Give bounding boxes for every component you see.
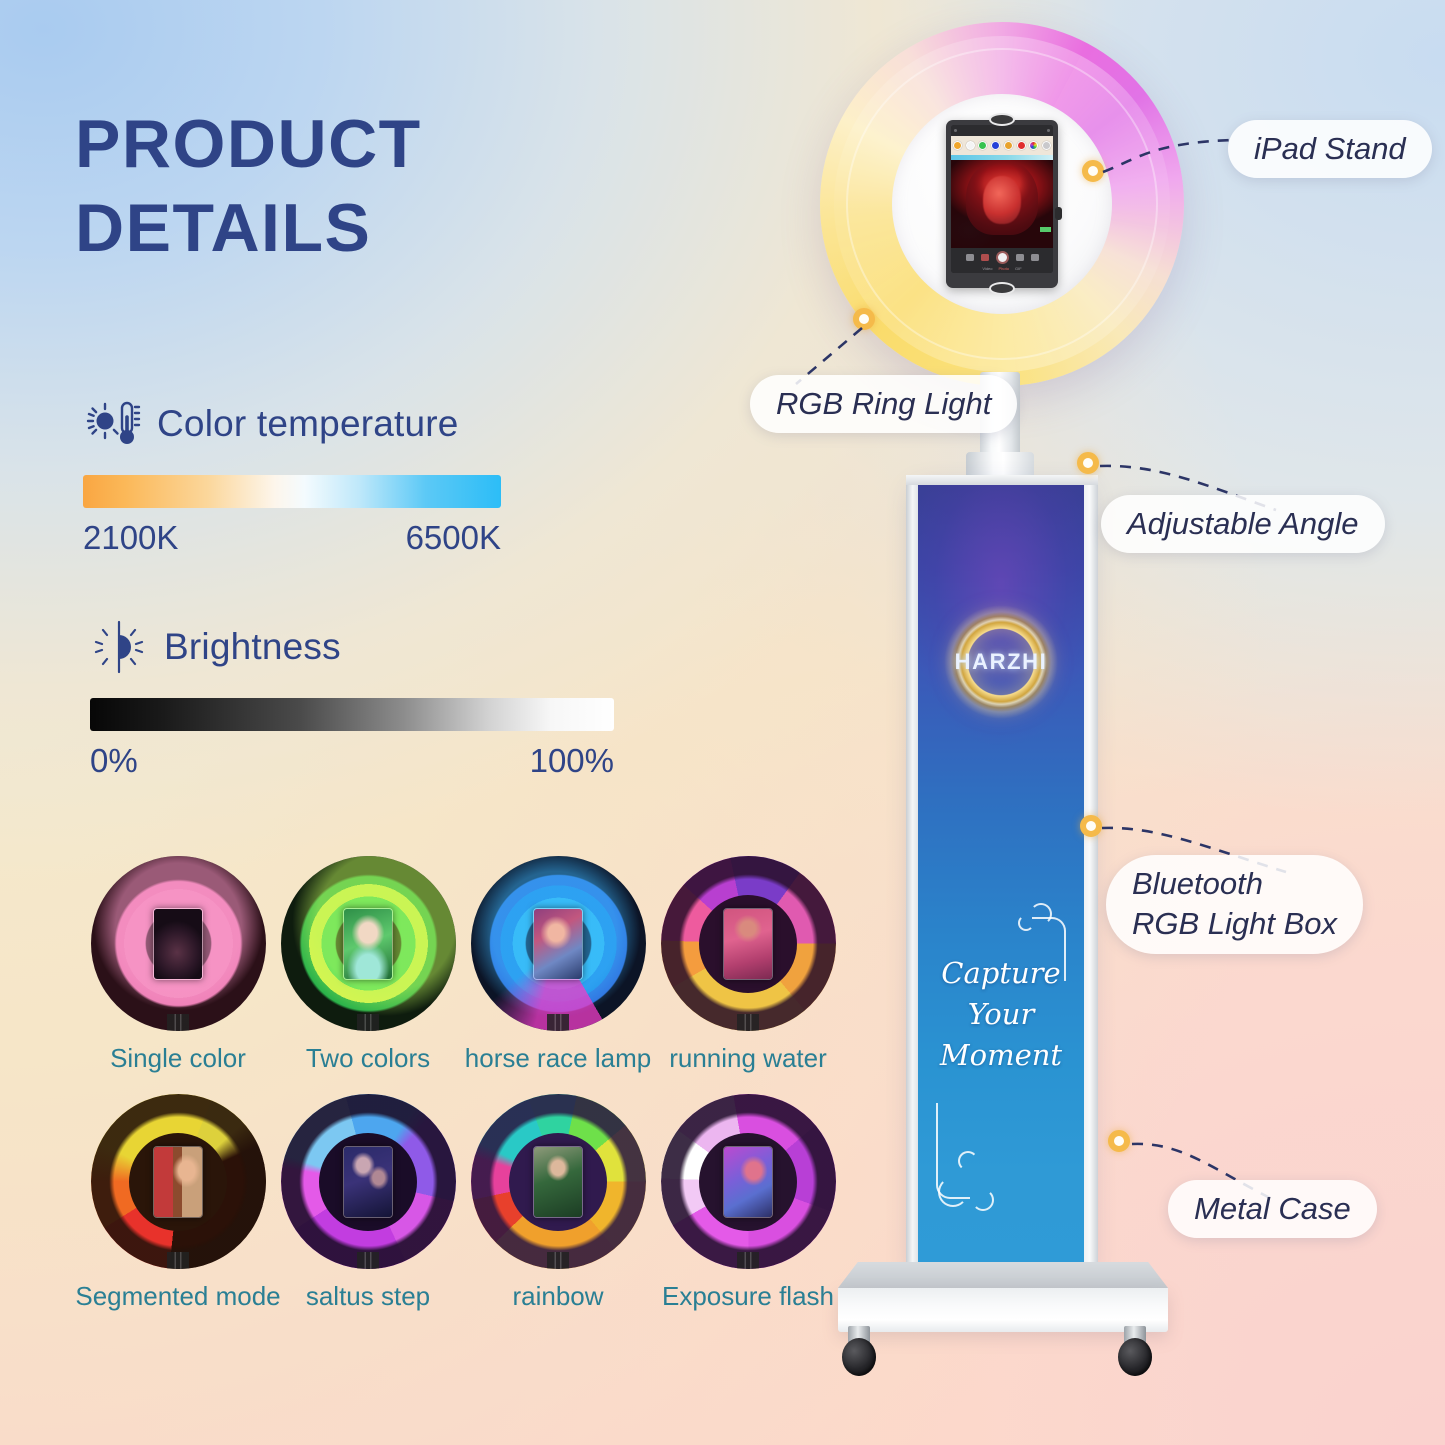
spec-brightness: Brightness 0% 100% (90, 618, 614, 784)
mode-gif-label[interactable]: GIF (1015, 266, 1022, 271)
tablet-photo-preview (153, 908, 203, 980)
light-box-left-frame (906, 479, 918, 1267)
swatch-amber-icon[interactable] (1004, 141, 1013, 150)
swatch-red-icon[interactable] (1017, 141, 1026, 150)
ring-stem (167, 1252, 189, 1269)
brightness-high-value: 100% (530, 742, 614, 780)
lighting-modes-row-1: Single color Two colors horse race lamp (83, 856, 853, 1074)
ct-high-value: 6500K (406, 519, 501, 557)
ring-light-preview (471, 1094, 646, 1269)
lighting-mode-segmented-mode[interactable]: Segmented mode (83, 1094, 273, 1312)
thermometer-sun-icon (83, 395, 141, 453)
color-temperature-gradient-bar (83, 475, 501, 508)
mode-label: Two colors (306, 1043, 430, 1074)
page-title-line-2: DETAILS (75, 187, 422, 271)
camera-flip-icon[interactable] (1016, 254, 1024, 261)
brand-emblem: HARZHI (940, 601, 1062, 723)
subject-face (983, 176, 1021, 224)
callout-pin-adjustable-angle (1077, 452, 1099, 474)
spec-color-temperature: Color temperature 2100K 6500K (83, 395, 501, 561)
mode-label: saltus step (306, 1281, 430, 1312)
brand-name: HARZHI (955, 649, 1048, 675)
brightness-sun-icon (90, 618, 148, 676)
shutter-button[interactable] (996, 251, 1009, 264)
mode-label: horse race lamp (465, 1043, 651, 1074)
tablet-photo-preview (723, 908, 773, 980)
swirl-decoration-icon (972, 1189, 994, 1211)
metal-case-base-top (838, 1262, 1168, 1288)
callout-pin-bluetooth-rgb-light-box (1080, 815, 1102, 837)
swatch-green-icon[interactable] (978, 141, 987, 150)
color-swatch-row[interactable] (951, 136, 1053, 155)
spec-header: Color temperature (83, 395, 501, 453)
gallery-icon[interactable] (966, 254, 974, 261)
ct-low-value: 2100K (83, 519, 178, 557)
ring-stem (167, 1014, 189, 1031)
lighting-mode-horse-race-lamp[interactable]: horse race lamp (463, 856, 653, 1074)
caster-wheel-left (842, 1326, 876, 1378)
lighting-mode-saltus-step[interactable]: saltus step (273, 1094, 463, 1312)
filter-icon[interactable] (981, 254, 989, 261)
spec-label: Brightness (164, 626, 341, 668)
caster-wheel (1118, 1338, 1152, 1376)
settings-icon[interactable] (1031, 254, 1039, 261)
swatch-white-icon[interactable] (966, 141, 975, 150)
color-temperature-scale: 2100K 6500K (83, 519, 501, 561)
ipad-clamp-bottom (989, 282, 1015, 295)
tablet-photo-preview (723, 1146, 773, 1218)
tablet-photo-preview (153, 1146, 203, 1218)
tablet-photo-preview (533, 908, 583, 980)
swatch-blue-icon[interactable] (991, 141, 1000, 150)
ring-stem (737, 1014, 759, 1031)
ring-light-preview (281, 1094, 456, 1269)
ring-light-preview (471, 856, 646, 1031)
bluetooth-rgb-light-box: HARZHI Capture Your Moment (916, 483, 1086, 1267)
camera-controls: Video Photo GIF (951, 248, 1053, 273)
lighting-mode-single-color[interactable]: Single color (83, 856, 273, 1074)
light-box-top-frame (906, 475, 1098, 485)
lighting-mode-two-colors[interactable]: Two colors (273, 856, 463, 1074)
ipad-in-stand: Video Photo GIF (946, 120, 1058, 288)
light-box-right-frame (1084, 477, 1098, 1267)
ipad-screen: Video Photo GIF (951, 125, 1053, 273)
mode-label: rainbow (512, 1281, 603, 1312)
tablet-photo-preview (533, 1146, 583, 1218)
ring-light-preview (91, 856, 266, 1031)
callout-adjustable-angle: Adjustable Angle (1101, 495, 1385, 553)
callout-pin-rgb-ring-light (853, 308, 875, 330)
ipad-status-bar (951, 125, 1053, 136)
tagline: Capture Your Moment (916, 953, 1086, 1077)
ipad-side-button (1055, 207, 1062, 220)
brightness-gradient-bar (90, 698, 614, 731)
callout-pin-metal-case (1108, 1130, 1130, 1152)
camera-mode-labels: Video Photo GIF (982, 266, 1021, 271)
spec-label: Color temperature (157, 403, 459, 445)
ring-stem (737, 1252, 759, 1269)
swirl-decoration-icon (958, 1151, 978, 1171)
ring-stem (547, 1252, 569, 1269)
tablet-photo-preview (343, 1146, 393, 1218)
swirl-decoration-icon (1018, 915, 1034, 931)
camera-control-icons (966, 251, 1039, 264)
rgb-ring-light: Video Photo GIF (820, 22, 1184, 386)
caster-wheel-right (1118, 1326, 1152, 1378)
swirl-decoration-icon (938, 1177, 968, 1207)
caster-wheel (842, 1338, 876, 1376)
mode-label: Segmented mode (75, 1281, 280, 1312)
tablet-photo-preview (343, 908, 393, 980)
ipad-clamp-top (989, 113, 1015, 126)
ring-stem (547, 1014, 569, 1031)
swatch-grey-icon[interactable] (1042, 141, 1051, 150)
page-title: PRODUCT DETAILS (75, 103, 422, 270)
callout-rgb-ring-light: RGB Ring Light (750, 375, 1017, 433)
viewfinder-badge (1040, 227, 1051, 232)
swatch-orange-icon[interactable] (953, 141, 962, 150)
ring-light-preview (281, 856, 456, 1031)
callout-pin-ipad-stand (1082, 160, 1104, 182)
mode-video-label[interactable]: Video (982, 266, 992, 271)
camera-viewfinder (951, 160, 1053, 248)
lighting-modes-row-2: Segmented mode saltus step (83, 1094, 853, 1312)
page-title-line-1: PRODUCT (75, 103, 422, 187)
mode-label: Single color (110, 1043, 246, 1074)
spec-header: Brightness (90, 618, 614, 676)
brightness-scale: 0% 100% (90, 742, 614, 784)
callout-metal-case: Metal Case (1168, 1180, 1377, 1238)
callout-bluetooth-rgb-light-box: Bluetooth RGB Light Box (1106, 855, 1363, 954)
ring-light-preview (91, 1094, 266, 1269)
lighting-modes-grid: Single color Two colors horse race lamp (83, 856, 853, 1312)
brightness-low-value: 0% (90, 742, 138, 780)
ring-stem (357, 1014, 379, 1031)
swatch-rainbow-icon[interactable] (1029, 141, 1038, 150)
ring-stem (357, 1252, 379, 1269)
mode-photo-label[interactable]: Photo (999, 266, 1009, 271)
lighting-mode-rainbow[interactable]: rainbow (463, 1094, 653, 1312)
callout-ipad-stand: iPad Stand (1228, 120, 1432, 178)
